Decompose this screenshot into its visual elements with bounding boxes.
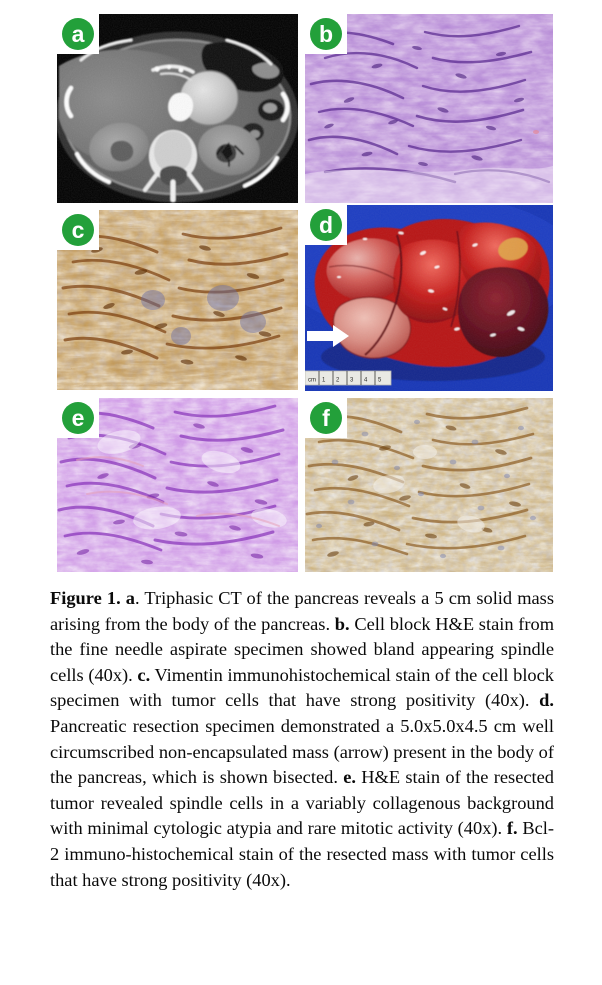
panel-label-e: e [62,402,94,434]
scale-ruler: cm 1 2 3 4 5 [305,371,391,385]
caption-segment: b. [335,614,350,634]
figure-caption: Figure 1. a. Triphasic CT of the pancrea… [50,586,554,893]
figure-container: a [0,0,602,985]
caption-segment: c. [137,665,150,685]
panel-label-a: a [62,18,94,50]
panel-label-c: c [62,214,94,246]
caption-segment: a [126,588,135,608]
svg-text:cm: cm [308,378,316,384]
panel-c-vimentin-ihc: c [57,210,298,390]
panel-d-gross-specimen: cm 1 2 3 4 5 d [305,205,553,391]
caption-segment: f. [507,818,518,838]
panel-label-d: d [310,209,342,241]
panel-b-he-cell-block: b [305,14,553,203]
caption-segment: Figure 1. [50,588,126,608]
caption-segment: e. [343,767,356,787]
panel-e-he-resected-tumor: e [57,398,298,572]
panel-f-bcl2-ihc: f [305,398,553,572]
panel-label-b: b [310,18,342,50]
panel-label-f: f [310,402,342,434]
panel-a-ct-pancreas: a [57,14,298,203]
caption-segment: d. [539,690,554,710]
